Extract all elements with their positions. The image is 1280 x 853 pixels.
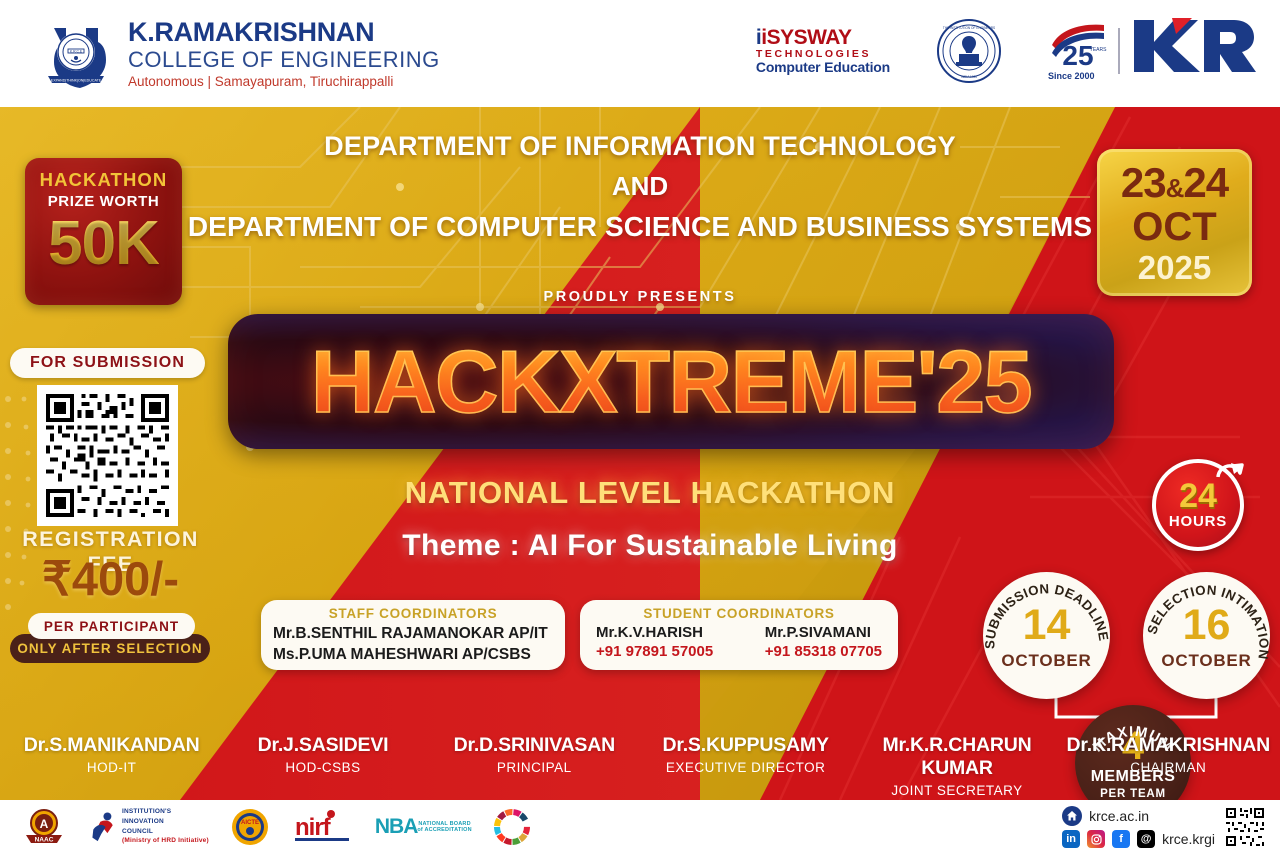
svg-text:K.R.C.E: K.R.C.E xyxy=(70,49,83,53)
national-level-subtitle: NATIONAL LEVEL HACKATHON xyxy=(250,475,1050,511)
svg-text:NAAC: NAAC xyxy=(35,836,54,843)
staff-coordinators-title: STAFF COORDINATORS xyxy=(273,606,553,621)
theme-subtitle: Theme : AI For Sustainable Living xyxy=(250,529,1050,563)
isysway-sub: TECHNOLOGIES xyxy=(756,49,890,60)
dignitary-4-name: Dr.S.KUPPUSAMY xyxy=(640,734,851,757)
divider xyxy=(1118,28,1120,74)
isysway-name: iSYSWAY xyxy=(761,26,851,49)
svg-text:A: A xyxy=(40,817,49,831)
college-name: K.RAMAKRISHNAN xyxy=(128,19,440,46)
department-line-2: DEPARTMENT OF COMPUTER SCIENCE AND BUSIN… xyxy=(0,211,1280,243)
staff-coordinators-box: STAFF COORDINATORS Mr.B.SENTHIL RAJAMANO… xyxy=(261,600,565,670)
social-handle[interactable]: krce.krgi xyxy=(1162,831,1215,847)
dignitary-5-role: JOINT SECRETARY xyxy=(851,783,1062,798)
instagram-icon[interactable] xyxy=(1087,830,1105,848)
student-2-name: Mr.P.SIVAMANI xyxy=(765,624,882,641)
event-days: 23&24 xyxy=(1121,162,1228,204)
student-coordinator-1: Mr.K.V.HARISH +91 97891 57005 xyxy=(596,624,713,660)
college-subtitle: COLLEGE OF ENGINEERING xyxy=(128,49,440,71)
college-tagline: Autonomous | Samayapuram, Tiruchirappall… xyxy=(128,75,440,89)
svg-text:YEARS: YEARS xyxy=(1090,47,1108,53)
svg-text:AICTE: AICTE xyxy=(241,820,259,826)
institutions-innovation-council-logo-icon: INSTITUTION'SINNOVATIONCOUNCIL(Ministry … xyxy=(88,807,209,847)
dignitary-6: Dr.K.RAMAKRISHNAN CHAIRMAN xyxy=(1063,734,1274,775)
event-year: 2025 xyxy=(1138,251,1211,284)
isysway-sub2: Computer Education xyxy=(756,60,890,74)
registration-fee-amount: ₹400/- xyxy=(8,551,213,607)
threads-icon[interactable]: @ xyxy=(1137,830,1155,848)
student-coordinators-title: STUDENT COORDINATORS xyxy=(592,606,886,621)
svg-text:THE INSTITUTION OF ENGINEERS: THE INSTITUTION OF ENGINEERS xyxy=(943,26,995,30)
kr-group-logo: 25 YEARS Since 2000 xyxy=(1048,16,1258,85)
dignitary-6-name: Dr.K.RAMAKRISHNAN xyxy=(1063,734,1274,757)
partner-logos: iiSYSWAY TECHNOLOGIES Computer Education… xyxy=(756,16,1258,85)
poster-body: HACKATHON PRIZE WORTH 50K DEPARTMENT OF … xyxy=(0,107,1280,800)
for-submission-pill: FOR SUBMISSION xyxy=(10,348,205,378)
home-icon xyxy=(1062,806,1082,826)
dignitary-1-role: HOD-IT xyxy=(6,760,217,775)
kr-since-label: Since 2000 xyxy=(1048,71,1095,81)
event-date-badge: 23&24 OCT 2025 xyxy=(1097,149,1252,296)
contact-block: krce.ac.in in f @ krce.krgi xyxy=(1062,806,1266,848)
dignitary-3: Dr.D.SRINIVASAN PRINCIPAL xyxy=(429,734,640,775)
nba-logo-icon: NBA NATIONAL BOARDof ACCREDITATION xyxy=(375,807,472,847)
dignitary-2-name: Dr.J.SASIDEVI xyxy=(217,734,428,757)
naac-logo-icon: A NAAC xyxy=(22,807,66,847)
svg-text:EXPAND|THINK|ON|EDUCATE: EXPAND|THINK|ON|EDUCATE xyxy=(51,78,102,82)
svg-text:25: 25 xyxy=(1062,40,1093,71)
ampersand: & xyxy=(1166,173,1184,203)
department-line-1: DEPARTMENT OF INFORMATION TECHNOLOGY xyxy=(0,131,1280,162)
dignitary-3-role: PRINCIPAL xyxy=(429,760,640,775)
dignitary-2: Dr.J.SASIDEVI HOD-CSBS xyxy=(217,734,428,775)
student-coordinator-2: Mr.P.SIVAMANI +91 85318 07705 xyxy=(765,624,882,660)
college-crest-icon: K.R.C.E EXPAND|THINK|ON|EDUCATE xyxy=(40,18,112,90)
staff-coordinator-2: Ms.P.UMA MAHESHWARI AP/CSBS xyxy=(273,645,553,666)
selection-intimation-month: OCTOBER xyxy=(1161,651,1251,671)
student-1-name: Mr.K.V.HARISH xyxy=(596,624,713,641)
hackathon-poster: K.R.C.E EXPAND|THINK|ON|EDUCATE K.RAMAKR… xyxy=(0,0,1280,853)
dignitaries-row: Dr.S.MANIKANDAN HOD-IT Dr.J.SASIDEVI HOD… xyxy=(0,734,1280,796)
proudly-presents-label: PROUDLY PRESENTS xyxy=(0,289,1280,305)
event-month: OCT xyxy=(1132,207,1216,247)
submission-deadline-day: 14 xyxy=(1023,604,1071,647)
dignitary-5-name: Mr.K.R.CHARUN KUMAR xyxy=(851,734,1062,780)
department-conjunction: AND xyxy=(0,171,1280,202)
submission-deadline-month: OCTOBER xyxy=(1001,651,1091,671)
dignitary-6-role: CHAIRMAN xyxy=(1063,760,1274,775)
linkedin-icon[interactable]: in xyxy=(1062,830,1080,848)
dignitary-3-name: Dr.D.SRINIVASAN xyxy=(429,734,640,757)
event-title: HACKXTREME'25 xyxy=(311,331,1031,433)
dignitary-4-role: EXECUTIVE DIRECTOR xyxy=(640,760,851,775)
student-1-phone[interactable]: +91 97891 57005 xyxy=(596,643,713,660)
website-url[interactable]: krce.ac.in xyxy=(1089,808,1149,824)
facebook-icon[interactable]: f xyxy=(1112,830,1130,848)
refresh-arrow-icon xyxy=(1214,461,1244,491)
per-participant-pill: PER PARTICIPANT xyxy=(28,613,195,639)
website-line[interactable]: krce.ac.in xyxy=(1062,806,1215,826)
poster-header: K.R.C.E EXPAND|THINK|ON|EDUCATE K.RAMAKR… xyxy=(0,0,1280,107)
svg-text:nirf: nirf xyxy=(295,814,332,841)
hours-unit: HOURS xyxy=(1169,513,1227,530)
24-hours-badge: 24 HOURS xyxy=(1152,459,1244,551)
student-coordinators-box: STUDENT COORDINATORS Mr.K.V.HARISH +91 9… xyxy=(580,600,898,670)
institution-of-engineers-seal-icon: THE INSTITUTION OF ENGINEERS INDIA 1920 xyxy=(936,18,1002,84)
nirf-logo-icon: nirf xyxy=(291,807,353,847)
poster-footer: A NAAC INSTITUTION'SINNOVATIONCOUNCIL(Mi… xyxy=(0,800,1280,853)
student-2-phone[interactable]: +91 85318 07705 xyxy=(765,643,882,660)
sdg-wheel-icon xyxy=(494,807,530,847)
social-line: in f @ krce.krgi xyxy=(1062,830,1215,848)
submission-qr-code[interactable] xyxy=(37,385,178,526)
selection-intimation-day: 16 xyxy=(1183,604,1231,647)
dignitary-1-name: Dr.S.MANIKANDAN xyxy=(6,734,217,757)
kr-25-years-icon: 25 YEARS Since 2000 xyxy=(1048,21,1110,81)
nba-caption: NATIONAL BOARDof ACCREDITATION xyxy=(417,821,471,833)
kr-monogram xyxy=(1128,16,1258,85)
nba-mark: NBA xyxy=(375,816,418,837)
dignitary-4: Dr.S.KUPPUSAMY EXECUTIVE DIRECTOR xyxy=(640,734,851,775)
selection-intimation-circle: SELECTION INTIMATION 16 OCTOBER xyxy=(1143,572,1270,699)
svg-text:INDIA 1920: INDIA 1920 xyxy=(961,75,978,79)
department-titles: DEPARTMENT OF INFORMATION TECHNOLOGY AND… xyxy=(0,131,1280,243)
accreditation-logos: A NAAC INSTITUTION'SINNOVATIONCOUNCIL(Mi… xyxy=(22,807,530,847)
college-identity: K.R.C.E EXPAND|THINK|ON|EDUCATE K.RAMAKR… xyxy=(40,18,440,90)
dignitary-1: Dr.S.MANIKANDAN HOD-IT xyxy=(6,734,217,775)
dignitary-2-role: HOD-CSBS xyxy=(217,760,428,775)
iic-label: INSTITUTION'SINNOVATIONCOUNCIL(Ministry … xyxy=(122,807,209,846)
hours-number: 24 xyxy=(1179,480,1217,512)
footer-qr-code[interactable] xyxy=(1224,806,1266,848)
event-title-plate: HACKXTREME'25 xyxy=(228,314,1114,449)
aicte-logo-icon: AICTE xyxy=(231,807,269,847)
submission-deadline-circle: SUBMISSION DEADLINE 14 OCTOBER xyxy=(983,572,1110,699)
isysway-logo: iiSYSWAY TECHNOLOGIES Computer Education xyxy=(756,27,890,75)
staff-coordinator-1: Mr.B.SENTHIL RAJAMANOKAR AP/IT xyxy=(273,624,553,645)
dignitary-5: Mr.K.R.CHARUN KUMAR JOINT SECRETARY xyxy=(851,734,1062,798)
